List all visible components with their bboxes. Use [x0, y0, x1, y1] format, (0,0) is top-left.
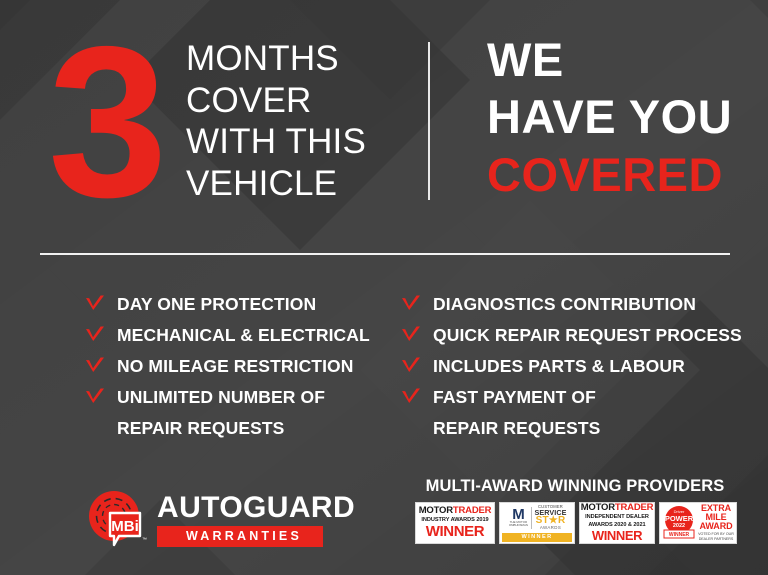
list-item: DIAGNOSTICS CONTRIBUTION [400, 292, 750, 323]
awards-section: MULTI-AWARD WINNING PROVIDERS MOTORTRADE… [415, 478, 735, 544]
badge-brand-black: MOTOR [581, 502, 615, 513]
feature-label: MECHANICAL & ELECTRICAL [117, 323, 370, 347]
svg-text:POWER: POWER [665, 514, 694, 523]
slogan-line-3-covered: COVERED [487, 146, 757, 203]
feature-label: UNLIMITED NUMBER OF [117, 385, 325, 409]
extra-mile-award-text: EXTRA MILE AWARD VOTED FOR BY OUR DEALER… [697, 504, 735, 541]
badge-brand-red: TRADER [453, 505, 491, 516]
badge-content-row: M THE MOTOR OMBUDSMAN CUSTOMER SERVICE S… [507, 504, 566, 532]
feature-column-right: DIAGNOSTICS CONTRIBUTION QUICK REPAIR RE… [400, 292, 750, 447]
list-item: UNLIMITED NUMBER OF [84, 385, 414, 416]
award-badge-motortrader-independent-dealer: MOTORTRADER INDEPENDENT DEALER AWARDS 20… [579, 502, 655, 544]
list-item: MECHANICAL & ELECTRICAL [84, 323, 414, 354]
check-icon [400, 294, 422, 316]
award-badges-row: MOTORTRADER INDUSTRY AWARDS 2019 WINNER … [415, 502, 735, 544]
badge-mark-caption: THE MOTOR OMBUDSMAN [507, 521, 529, 528]
feature-label: DIAGNOSTICS CONTRIBUTION [433, 292, 696, 316]
check-icon [84, 387, 106, 409]
feature-label: FAST PAYMENT OF [433, 385, 596, 409]
feature-column-left: DAY ONE PROTECTION MECHANICAL & ELECTRIC… [84, 292, 414, 447]
check-icon [84, 356, 106, 378]
feature-label: DAY ONE PROTECTION [117, 292, 316, 316]
slogan-line-1: WE [487, 31, 757, 88]
list-item-continuation: REPAIR REQUESTS [84, 416, 414, 447]
feature-label: INCLUDES PARTS & LABOUR [433, 354, 685, 378]
check-icon [400, 387, 422, 409]
brand-tagline: WARRANTIES [157, 526, 323, 547]
autoguard-wordmark: AUTOGUARD WARRANTIES [157, 493, 355, 547]
badge-line-3: AWARD [700, 522, 733, 531]
badge-divider [531, 507, 532, 529]
list-item-continuation: REPAIR REQUESTS [400, 416, 750, 447]
brand-name: AUTOGUARD [157, 493, 355, 523]
features-section: DAY ONE PROTECTION MECHANICAL & ELECTRIC… [0, 292, 768, 452]
badge-status: WINNER [592, 529, 642, 542]
award-badge-customer-service-star: M THE MOTOR OMBUDSMAN CUSTOMER SERVICE S… [499, 502, 575, 544]
list-item: NO MILEAGE RESTRICTION [84, 354, 414, 385]
svg-text:™: ™ [142, 537, 147, 543]
svg-text:MBi: MBi [111, 518, 139, 535]
award-badge-motortrader-industry-2019: MOTORTRADER INDUSTRY AWARDS 2019 WINNER [415, 502, 495, 544]
svg-text:2022: 2022 [673, 523, 685, 529]
list-item: INCLUDES PARTS & LABOUR [400, 354, 750, 385]
headline-line-2: COVER [186, 80, 416, 122]
autoguard-logo: MBi ™ AUTOGUARD WARRANTIES [86, 489, 355, 551]
horizontal-divider [40, 253, 730, 255]
check-icon [400, 356, 422, 378]
badge-line-4: AWARDS [540, 526, 561, 530]
cover-duration-number: 3 [48, 14, 160, 229]
headline-line-4: VEHICLE [186, 163, 416, 205]
list-item: QUICK REPAIR REQUEST PROCESS [400, 323, 750, 354]
slogan-line-2: HAVE YOU [487, 88, 757, 145]
feature-label-continued: REPAIR REQUESTS [433, 416, 600, 440]
award-badge-power-2022-extra-mile: Driver POWER 2022 WINNER EXTRA MILE AWAR… [659, 502, 737, 544]
badge-brand-line: MOTORTRADER [419, 506, 492, 516]
feature-label-continued: REPAIR REQUESTS [117, 416, 284, 440]
driver-power-seal-icon: Driver POWER 2022 WINNER [661, 504, 697, 542]
badge-subtitle: VOTED FOR BY OUR DEALER PARTNERS [697, 532, 735, 541]
check-icon [84, 325, 106, 347]
warranty-promo-banner: 3 MONTHS COVER WITH THIS VEHICLE WE HAVE… [0, 0, 768, 575]
badge-status: WINNER [426, 524, 484, 539]
feature-label: NO MILEAGE RESTRICTION [117, 354, 354, 378]
slogan-block: WE HAVE YOU COVERED [487, 31, 757, 203]
feature-label: QUICK REPAIR REQUEST PROCESS [433, 323, 742, 347]
header-vertical-divider [428, 42, 430, 200]
headline-line-3: WITH THIS [186, 121, 416, 163]
check-icon [400, 325, 422, 347]
svg-text:WINNER: WINNER [669, 532, 690, 538]
badge-text-stack: CUSTOMER SERVICE ST★R AWARDS [534, 505, 566, 531]
badge-mark-glyph: M [512, 508, 525, 521]
awards-title: MULTI-AWARD WINNING PROVIDERS [415, 478, 735, 495]
headline-line-1: MONTHS [186, 38, 416, 80]
badge-brand-red: TRADER [615, 502, 653, 513]
badge-brand-black: MOTOR [419, 505, 453, 516]
motor-ombudsman-icon: M THE MOTOR OMBUDSMAN [507, 508, 529, 528]
badge-status: WINNER [502, 533, 572, 542]
badge-subtitle-1: INDEPENDENT DEALER [585, 514, 649, 521]
cover-duration-text: MONTHS COVER WITH THIS VEHICLE [186, 38, 416, 205]
check-icon [84, 294, 106, 316]
list-item: DAY ONE PROTECTION [84, 292, 414, 323]
mbi-logo-icon: MBi ™ [86, 489, 148, 551]
badge-brand-line: MOTORTRADER [581, 503, 654, 513]
header-block: 3 MONTHS COVER WITH THIS VEHICLE WE HAVE… [0, 0, 768, 250]
list-item: FAST PAYMENT OF [400, 385, 750, 416]
